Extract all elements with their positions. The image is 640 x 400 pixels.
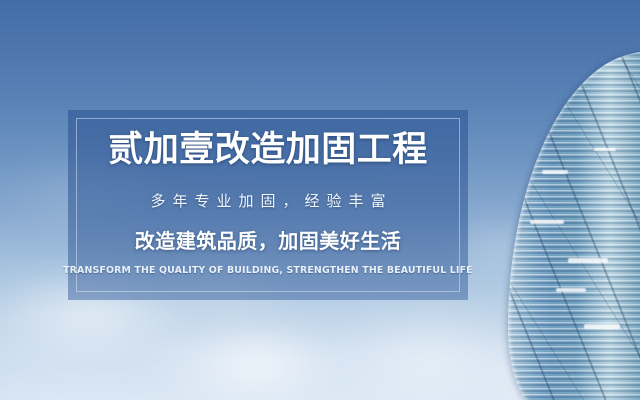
banner-subtitle-cn: 多年专业加固，经验丰富 <box>143 190 392 211</box>
skyscraper-window-glint <box>530 220 564 224</box>
skyscraper-body <box>508 52 640 400</box>
banner-headline: 贰加壹改造加固工程 <box>108 133 428 168</box>
skyscraper-window-glint <box>568 258 608 263</box>
skyscraper-image <box>480 0 640 400</box>
text-overlay-panel: 贰加壹改造加固工程 多年专业加固，经验丰富 改造建筑品质，加固美好生活 TRAN… <box>68 110 468 300</box>
skyscraper-window-glint <box>542 170 568 174</box>
skyscraper-diagonal-structure-secondary <box>508 52 640 400</box>
promotional-banner: 贰加壹改造加固工程 多年专业加固，经验丰富 改造建筑品质，加固美好生活 TRAN… <box>0 0 640 400</box>
banner-slogan-cn: 改造建筑品质，加固美好生活 <box>135 225 402 254</box>
skyscraper-window-glint <box>594 148 616 151</box>
skyscraper-window-glint <box>584 324 620 329</box>
skyscraper-window-glint <box>556 288 586 292</box>
banner-slogan-en: TRANSFORM THE QUALITY OF BUILDING, STREN… <box>63 265 473 276</box>
